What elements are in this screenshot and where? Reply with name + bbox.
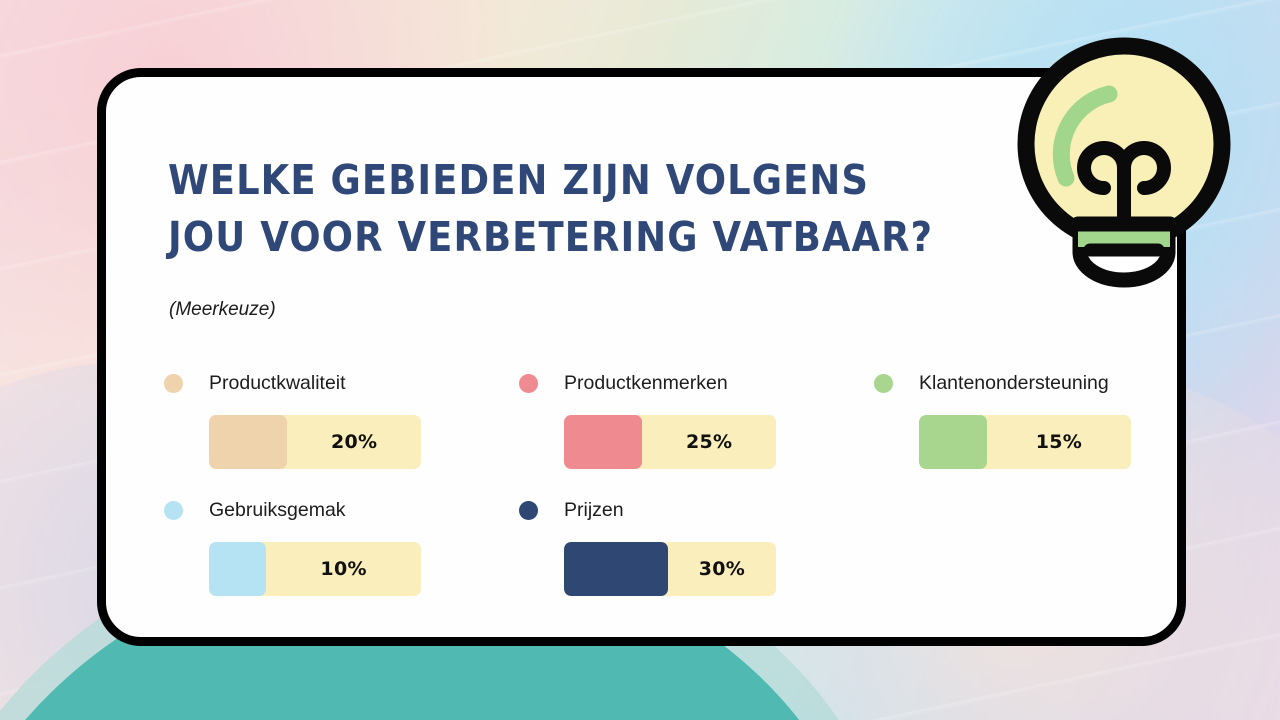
option-label: Productkwaliteit	[209, 372, 346, 395]
legend-dot-icon	[164, 501, 183, 520]
legend-dot-icon	[874, 374, 893, 393]
option-bar: 25%	[564, 415, 776, 469]
question-type-note: (Meerkeuze)	[169, 299, 276, 321]
page-title: WELKE GEBIEDEN ZIJN VOLGENS JOU VOOR VER…	[168, 152, 960, 266]
option-item: Productkenmerken25%	[519, 367, 874, 494]
option-label: Productkenmerken	[564, 372, 728, 395]
option-header: Productkenmerken	[519, 367, 874, 399]
option-bar-fill	[209, 415, 287, 469]
legend-dot-icon	[519, 374, 538, 393]
options-grid: Productkwaliteit20%Productkenmerken25%Kl…	[164, 367, 1154, 621]
option-item: Klantenondersteuning15%	[874, 367, 1144, 494]
option-bar-value: 30%	[668, 542, 776, 596]
legend-dot-icon	[519, 501, 538, 520]
option-item: Gebruiksgemak10%	[164, 494, 519, 621]
legend-dot-icon	[164, 374, 183, 393]
option-label: Prijzen	[564, 499, 624, 522]
option-bar-fill	[919, 415, 987, 469]
option-bar-value: 25%	[642, 415, 776, 469]
option-bar-fill	[564, 415, 642, 469]
option-bar-value: 10%	[266, 542, 421, 596]
lightbulb-icon	[1008, 28, 1240, 313]
option-bar-value: 15%	[987, 415, 1131, 469]
option-bar-fill	[564, 542, 668, 596]
option-bar-fill	[209, 542, 266, 596]
option-bar: 10%	[209, 542, 421, 596]
option-header: Klantenondersteuning	[874, 367, 1144, 399]
option-label: Klantenondersteuning	[919, 372, 1109, 395]
option-header: Gebruiksgemak	[164, 494, 519, 526]
option-bar-value: 20%	[287, 415, 421, 469]
option-bar: 30%	[564, 542, 776, 596]
option-label: Gebruiksgemak	[209, 499, 346, 522]
option-header: Productkwaliteit	[164, 367, 519, 399]
option-bar: 15%	[919, 415, 1131, 469]
option-header: Prijzen	[519, 494, 874, 526]
option-item: Productkwaliteit20%	[164, 367, 519, 494]
option-bar: 20%	[209, 415, 421, 469]
option-item: Prijzen30%	[519, 494, 874, 621]
